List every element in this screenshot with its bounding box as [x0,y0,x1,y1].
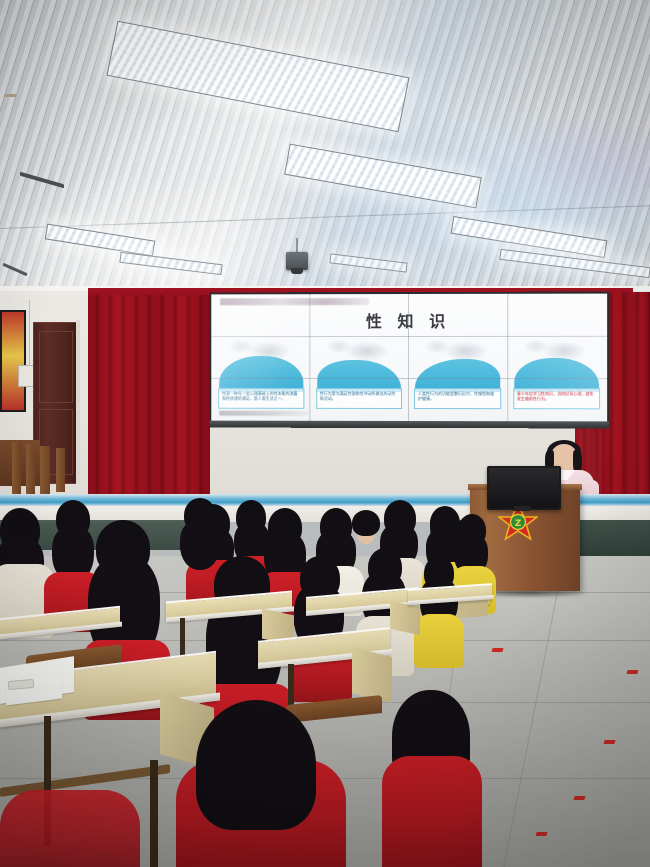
svg-text:Z: Z [515,519,522,529]
panel-text: 性行为是为满足性欲和性冲动所做出的动作和活动。 [320,391,398,402]
student-hair [196,700,316,830]
screen-panel-seam [507,294,508,421]
door-frame [76,320,80,484]
stage-curtain-left [88,295,210,510]
led-video-wall[interactable]: 性 知 识 性是一种在一定心理基础上的性本能的流露和性欲望的满足，是人类生活之一… [209,292,609,429]
slide-panel: 青少年应学习性知识，消除好奇心理，避免发生婚前性行为。 [512,332,601,409]
student-head [352,510,380,536]
wall-cord [29,300,30,372]
floor-marker [626,670,638,674]
floor-tile-line [503,576,561,867]
panel-text: 人类性行为的功能是繁衍后代、性愉悦和维护健康。 [418,391,497,402]
side-chair [12,442,21,494]
desk-side-panel [352,647,392,703]
screen-panel-seam [408,294,409,421]
floor-marker [573,796,585,800]
podium-monitor[interactable] [487,466,561,510]
monitor-stand [514,506,530,511]
student-torso [0,790,140,867]
wall-poster [0,310,26,412]
slide-header-line [220,298,369,305]
stage-curtain-right [602,292,650,522]
panel-textbox: 性是一种在一定心理基础上的性本能的流露和性欲望的满足，是人类生活之一。 [218,388,304,409]
panel-textbox: 性行为是为满足性欲和性冲动所做出的动作和活动。 [316,388,402,409]
panel-textbox: 人类性行为的功能是繁衍后代、性愉悦和维护健康。 [414,388,501,409]
door-panel-upper [39,331,73,403]
projector-lens-icon [291,268,303,274]
desk-leg [150,760,158,867]
screen-panel-seam [309,294,310,421]
student-torso [382,756,482,867]
side-chair [26,444,35,494]
slide-footer-line [219,411,308,416]
slide-surface: 性 知 识 性是一种在一定心理基础上的性本能的流露和性欲望的满足，是人类生活之一… [211,294,607,422]
side-chair [40,446,50,494]
slide-panel: 人类性行为的功能是繁衍后代、性愉悦和维护健康。 [413,332,502,409]
slide-panel-group: 性是一种在一定心理基础上的性本能的流露和性欲望的满足，是人类生活之一。 性行为是… [217,332,601,409]
floor-marker [535,832,547,836]
slide-panel: 性行为是为满足性欲和性冲动所做出的动作和活动。 [315,332,403,409]
panel-text: 青少年应学习性知识，消除好奇心理，避免发生婚前性行为。 [517,391,596,402]
side-chair [56,448,65,492]
door-handle[interactable] [4,94,16,97]
student-hair [180,520,220,570]
floor-marker [491,648,503,652]
floor-marker [603,740,615,744]
classroom-photo: 性 知 识 性是一种在一定心理基础上的性本能的流露和性欲望的满足，是人类生活之一… [0,0,650,867]
screen-bottom-frame [209,421,609,429]
student-torso [414,614,464,668]
slide-title: 性 知 识 [211,308,607,332]
panel-textbox: 青少年应学习性知识，消除好奇心理，避免发生婚前性行为。 [513,388,600,409]
slide-panel: 性是一种在一定心理基础上的性本能的流露和性欲望的满足，是人类生活之一。 [217,332,305,409]
panel-text: 性是一种在一定心理基础上的性本能的流露和性欲望的满足，是人类生活之一。 [222,391,300,402]
